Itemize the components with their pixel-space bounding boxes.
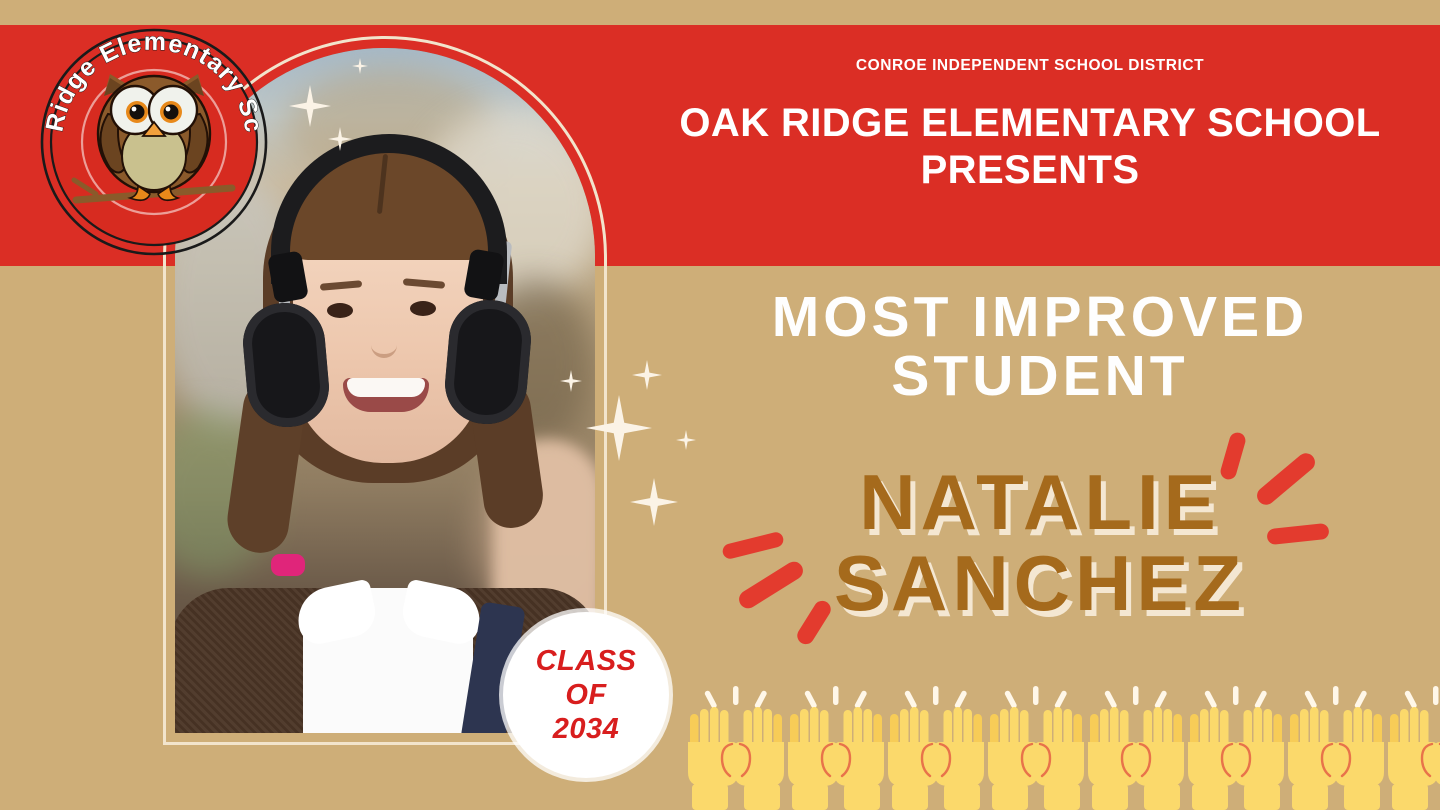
badge-line-2: OF <box>565 678 606 712</box>
school-logo: Oak Ridge Elementary School <box>34 22 274 262</box>
raising-hands-icon <box>1186 680 1286 810</box>
award-title: MOST IMPROVED STUDENT <box>640 288 1440 405</box>
class-badge: CLASS OF 2034 <box>503 612 669 778</box>
student-name-line1: NATALIE <box>640 462 1440 543</box>
badge-line-1: CLASS <box>536 644 637 678</box>
sparkle-icon <box>676 430 696 450</box>
award-slide: Oak Ridge Elementary School CONROE INDEP… <box>0 0 1440 810</box>
raising-hands-icon <box>1086 680 1186 810</box>
badge-text: CLASS OF 2034 <box>503 612 669 778</box>
student-name: NATALIE SANCHEZ <box>640 462 1440 624</box>
raising-hands-icon <box>686 680 786 810</box>
hair-tie <box>271 554 305 576</box>
badge-line-3: 2034 <box>553 712 620 746</box>
eye-left <box>327 303 353 318</box>
raising-hands-icon <box>886 680 986 810</box>
mouth <box>343 378 429 412</box>
teeth <box>347 378 425 397</box>
raising-hands-icon <box>986 680 1086 810</box>
eye-right <box>410 301 436 316</box>
raising-hands-icon <box>786 680 886 810</box>
award-title-line1: MOST IMPROVED <box>640 288 1440 347</box>
raising-hands-row <box>686 680 1440 810</box>
raising-hands-icon <box>1386 680 1440 810</box>
student-name-line2: SANCHEZ <box>640 543 1440 624</box>
award-title-line2: STUDENT <box>640 347 1440 406</box>
raising-hands-icon <box>1286 680 1386 810</box>
